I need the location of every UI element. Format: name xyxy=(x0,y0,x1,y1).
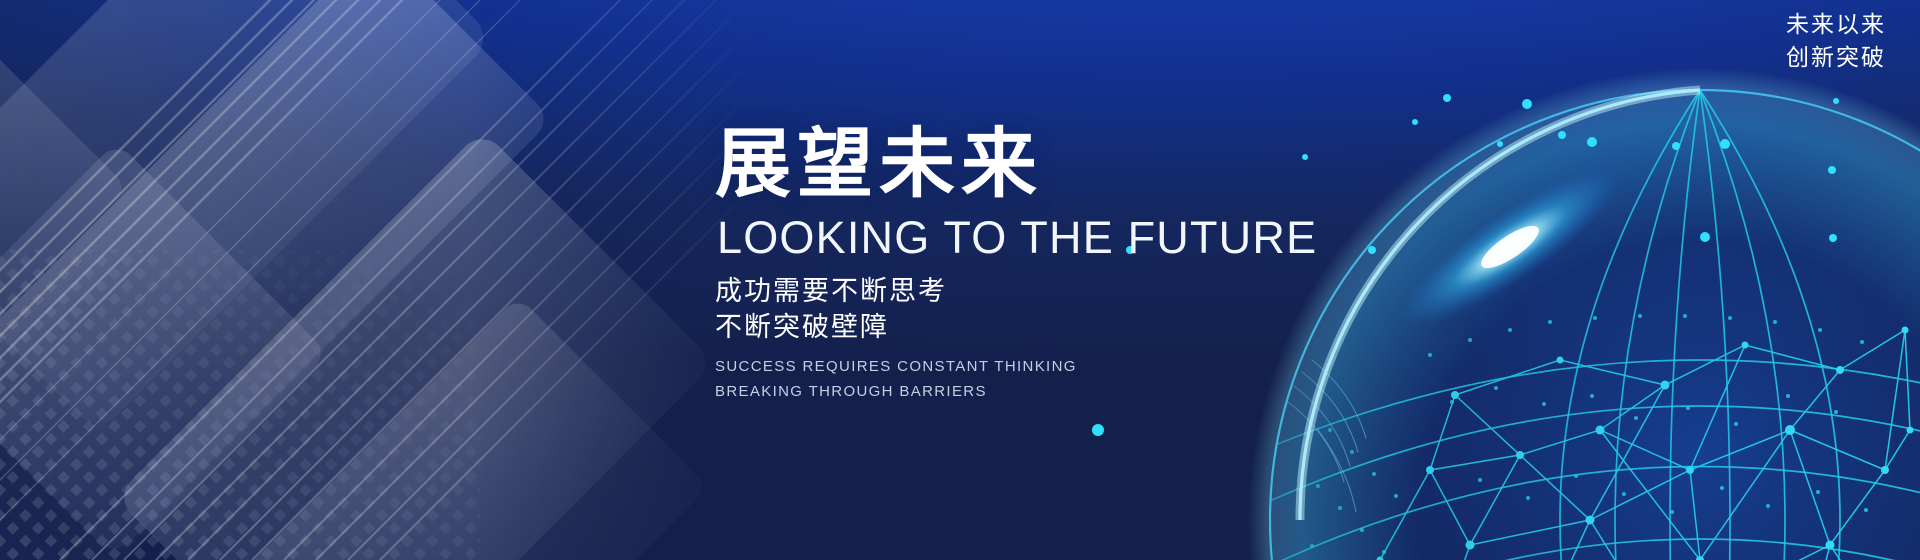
page-title-english: LOOKING TO THE FUTURE xyxy=(717,214,1475,261)
corner-tagline: 未来以来 创新突破 xyxy=(1786,8,1886,73)
subhead-chinese-line-2: 不断突破壁障 xyxy=(715,309,1475,346)
page-title-chinese: 展望未来 xyxy=(715,126,1475,204)
subhead-english-group: SUCCESS REQUIRES CONSTANT THINKING BREAK… xyxy=(715,355,1475,404)
hero-copy-block: 展望未来 LOOKING TO THE FUTURE 成功需要不断思考 不断突破… xyxy=(715,126,1475,404)
subhead-chinese-line-1: 成功需要不断思考 xyxy=(715,273,1475,310)
corner-tagline-line-2: 创新突破 xyxy=(1786,41,1886,74)
subhead-english-line-1: SUCCESS REQUIRES CONSTANT THINKING xyxy=(715,355,1475,379)
subhead-chinese-group: 成功需要不断思考 不断突破壁障 xyxy=(715,273,1475,346)
hero-banner: 展望未来 LOOKING TO THE FUTURE 成功需要不断思考 不断突破… xyxy=(0,0,1920,560)
subhead-english-line-2: BREAKING THROUGH BARRIERS xyxy=(715,380,1475,404)
corner-tagline-line-1: 未来以来 xyxy=(1786,8,1886,41)
